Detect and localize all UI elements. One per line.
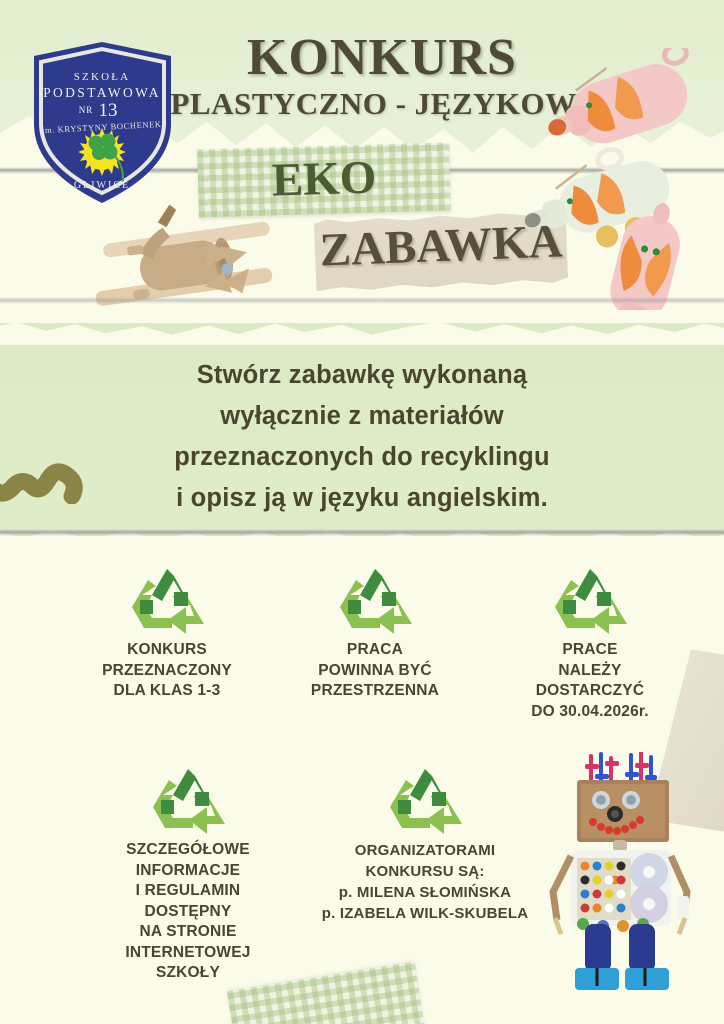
lead-line-4: i opisz ją w języku angielskim. [62,478,662,519]
caption-line: POWINNA BYĆ [311,661,439,682]
caption-line: KONKURSU SĄ: [322,861,529,882]
cardboard-tube-airplane-photo [78,200,283,325]
school-crest: SZKOŁA PODSTAWOWA NR 13 im. KRYSTYNY BOC… [30,40,175,205]
caption-line: I REGULAMIN [125,881,250,902]
torn-edge-shadow-bottom [0,529,724,536]
info-item-deadline: PRACE NALEŻY DOSTARCZYĆ DO 30.04.2026r. [500,566,680,722]
caption-line: INTERNETOWEJ [125,943,250,964]
caption-line: NA STRONIE [125,922,250,943]
caption-line: NALEŻY [531,661,649,682]
organizer-name: p. IZABELA WILK-SKUBELA [322,903,529,924]
info-item-age-group: KONKURS PRZEZNACZONY DLA KLAS 1-3 [92,566,242,702]
lead-paragraph: Stwórz zabawkę wykonaną wyłącznie z mate… [62,355,662,519]
plastic-bottle-pigs-photo [500,48,724,310]
info-caption: SZCZEGÓŁOWE INFORMACJE I REGULAMIN DOSTĘ… [125,840,250,984]
caption-line: PRZESTRZENNA [311,681,439,702]
recycle-icon [149,766,227,834]
poster-canvas: SZKOŁA PODSTAWOWA NR 13 im. KRYSTYNY BOC… [0,0,724,1024]
caption-line: PRACE [531,640,649,661]
caption-line: PRACA [311,640,439,661]
caption-line: DOSTĘPNY [125,902,250,923]
info-item-rules-website: SZCZEGÓŁOWE INFORMACJE I REGULAMIN DOSTĘ… [108,766,268,984]
caption-line: DOSTARCZYĆ [531,681,649,702]
recycle-icon [551,566,629,634]
recycle-icon [128,566,206,634]
info-caption: ORGANIZATORAMI KONKURSU SĄ: p. MILENA SŁ… [322,840,529,924]
crest-city: GLIWICE [74,180,130,191]
info-caption: PRACE NALEŻY DOSTARCZYĆ DO 30.04.2026r. [531,640,649,722]
recycle-icon [386,766,464,834]
lead-line-1: Stwórz zabawkę wykonaną [62,355,662,396]
lead-line-3: przeznaczonych do recyklingu [62,437,662,478]
crest-nr-value: 13 [99,100,118,121]
caption-line: ORGANIZATORAMI [322,840,529,861]
info-item-3d-requirement: PRACA POWINNA BYĆ PRZESTRZENNA [285,566,465,702]
info-item-organizers: ORGANIZATORAMI KONKURSU SĄ: p. MILENA SŁ… [300,766,550,924]
info-caption: KONKURS PRZEZNACZONY DLA KLAS 1-3 [102,640,232,702]
organizer-name: p. MILENA SŁOMIŃSKA [322,882,529,903]
caption-line-deadline-date: DO 30.04.2026r. [531,702,649,723]
caption-line: DLA KLAS 1-3 [102,681,232,702]
crest-line2: PODSTAWOWA [43,85,161,100]
torn-edge-shadow-mid [0,297,724,304]
caption-line: KONKURS [102,640,232,661]
recycle-icon [336,566,414,634]
caption-line: SZCZEGÓŁOWE [125,840,250,861]
caption-line: PRZEZNACZONY [102,661,232,682]
lead-line-2: wyłącznie z materiałów [62,396,662,437]
recycled-robot-photo [545,752,705,1000]
caption-line: SZKOŁY [125,963,250,984]
crest-line1: SZKOŁA [74,71,131,83]
crest-nr-label: NR [79,105,94,115]
info-caption: PRACA POWINNA BYĆ PRZESTRZENNA [311,640,439,702]
caption-line: INFORMACJE [125,861,250,882]
